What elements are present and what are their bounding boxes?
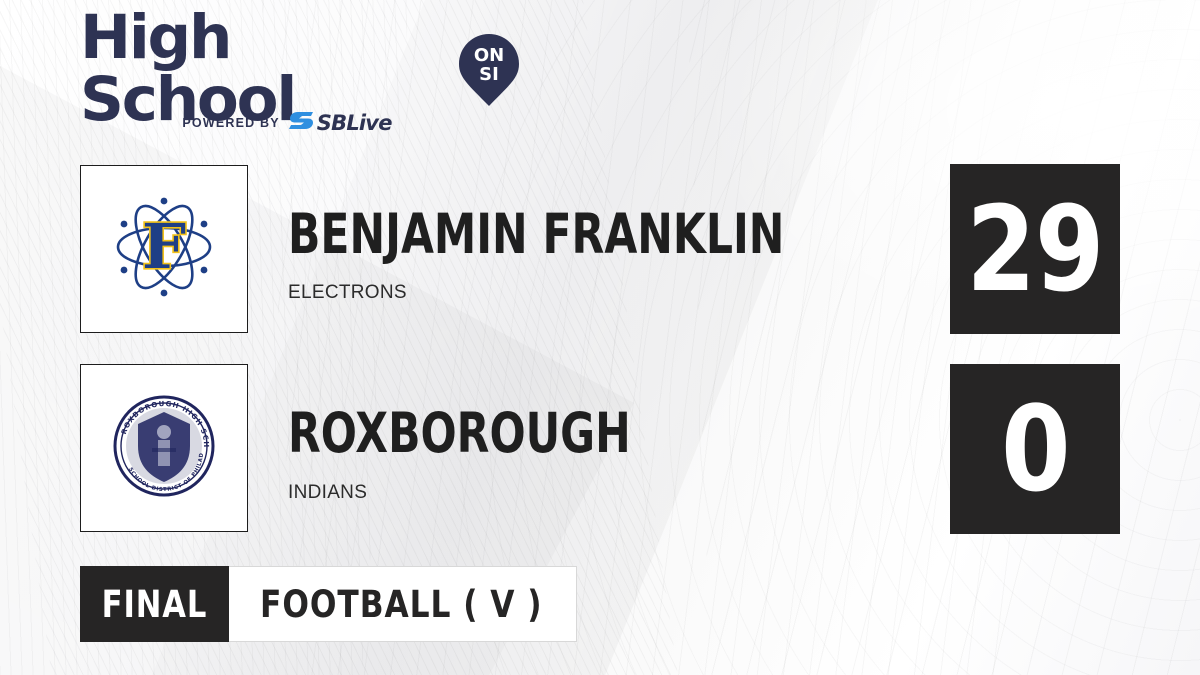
- team-score: 0: [1001, 390, 1070, 508]
- sport-label-box: FOOTBALL ( V ): [229, 566, 577, 642]
- status-badge: FINAL: [80, 566, 229, 642]
- sblive-logo: SBLive: [289, 111, 392, 135]
- pin-text-bottom: SI: [479, 64, 499, 85]
- benjamin-franklin-atom-logo-icon: F: [105, 188, 223, 311]
- team-score-box: 0: [950, 364, 1120, 534]
- powered-by-label: POWERED BY: [182, 116, 279, 130]
- brand-wordmark: High School: [80, 7, 448, 131]
- team-mascot: ELECTRONS: [288, 283, 407, 302]
- team-score-box: 29: [950, 164, 1120, 334]
- team-logo-box: F: [80, 165, 248, 333]
- scoreboard-graphic: High School ON SI POWERED BY SBLive: [0, 0, 1200, 675]
- team-score: 29: [966, 190, 1103, 308]
- team-name: ROXBOROUGH: [288, 406, 631, 461]
- sblive-wordmark: SBLive: [317, 113, 392, 134]
- sport-label: FOOTBALL ( V ): [260, 583, 542, 626]
- roxborough-seal-logo-icon: ROXBOROUGH HIGH SCHOOL SCHOOL DISTRICT O…: [108, 390, 220, 507]
- sblive-bolt-icon: [289, 111, 315, 135]
- brand-header: High School ON SI POWERED BY SBLive: [80, 30, 520, 140]
- on-si-pin-icon: ON SI: [458, 33, 520, 107]
- pin-text-top: ON: [474, 45, 504, 66]
- team-mascot: INDIANS: [288, 483, 367, 502]
- game-status-bar: FINAL FOOTBALL ( V ): [80, 566, 577, 642]
- status-label: FINAL: [102, 583, 208, 626]
- team-logo-box: ROXBOROUGH HIGH SCHOOL SCHOOL DISTRICT O…: [80, 364, 248, 532]
- svg-text:F: F: [142, 210, 186, 283]
- brand-title-row: High School ON SI: [80, 30, 520, 108]
- team-name: BENJAMIN FRANKLIN: [288, 207, 784, 262]
